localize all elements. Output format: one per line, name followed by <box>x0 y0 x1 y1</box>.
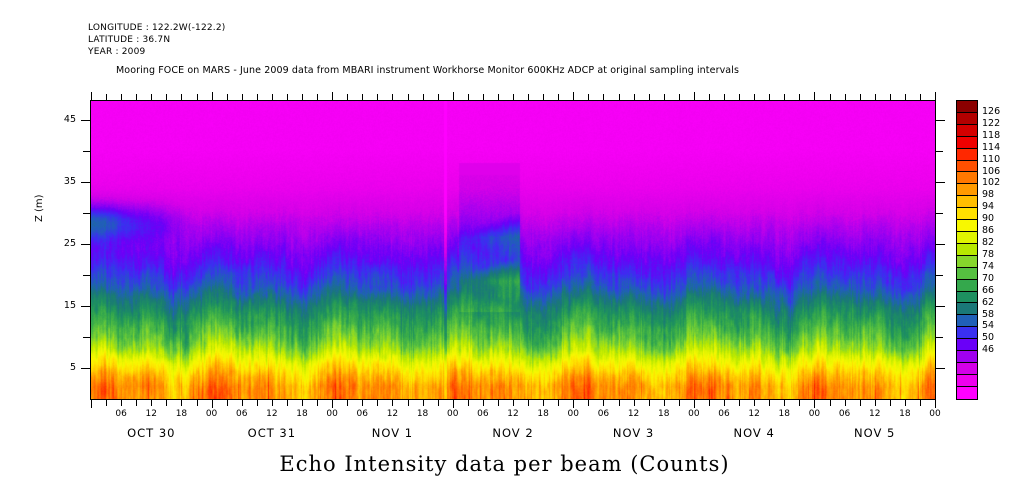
colorbar-cell <box>957 339 977 351</box>
axis-tick <box>784 400 785 406</box>
axis-tick <box>151 94 152 100</box>
x-axis-hour-label: 12 <box>741 409 767 419</box>
axis-tick <box>935 92 936 100</box>
latitude-text: LATITUDE : 36.7N <box>88 35 170 45</box>
x-axis-hour-label: 06 <box>711 409 737 419</box>
axis-tick <box>936 275 943 276</box>
axis-tick <box>362 94 363 100</box>
colorbar-tick-label: 66 <box>982 285 994 296</box>
axis-tick <box>739 400 740 406</box>
colorbar-cell <box>957 208 977 220</box>
axis-tick <box>799 94 800 100</box>
axis-tick <box>936 368 945 369</box>
axis-tick <box>121 400 122 406</box>
axis-tick <box>227 400 228 406</box>
axis-tick <box>936 213 943 214</box>
axis-tick <box>936 182 945 183</box>
colorbar-tick-label: 82 <box>982 237 994 248</box>
colorbar-tick-label: 70 <box>982 273 994 284</box>
axis-tick <box>166 400 167 406</box>
axis-tick <box>694 92 695 100</box>
axis-tick <box>724 400 725 406</box>
axis-tick <box>408 94 409 100</box>
axis-tick <box>830 94 831 100</box>
axis-tick <box>558 94 559 100</box>
x-axis-hour-label: 06 <box>470 409 496 419</box>
axis-tick <box>106 400 107 406</box>
colorbar-tick-label: 54 <box>982 320 994 331</box>
colorbar-tick-label: 118 <box>982 130 1000 141</box>
axis-tick <box>649 400 650 406</box>
axis-tick <box>528 94 529 100</box>
axis-tick <box>272 400 273 406</box>
axis-tick <box>543 94 544 100</box>
x-axis-hour-label: 12 <box>138 409 164 419</box>
colorbar-cell <box>957 196 977 208</box>
x-axis-hour-label: 00 <box>440 409 466 419</box>
axis-tick <box>664 94 665 100</box>
axis-tick <box>468 400 469 406</box>
axis-tick <box>136 94 137 100</box>
axis-tick <box>362 400 363 406</box>
x-axis-hour-label: 18 <box>289 409 315 419</box>
axis-tick <box>694 400 695 408</box>
colorbar-cell <box>957 137 977 149</box>
colorbar-cell <box>957 172 977 184</box>
axis-tick <box>603 94 604 100</box>
axis-tick <box>634 94 635 100</box>
x-axis-date-label: NOV 4 <box>699 426 809 440</box>
colorbar-cell <box>957 292 977 304</box>
x-axis-hour-label: 00 <box>801 409 827 419</box>
x-axis-hour-label: 12 <box>621 409 647 419</box>
axis-tick <box>287 94 288 100</box>
axis-tick <box>151 400 152 406</box>
colorbar-cell <box>957 268 977 280</box>
x-axis-hour-label: 18 <box>651 409 677 419</box>
axis-tick <box>573 92 574 100</box>
axis-tick <box>634 400 635 406</box>
axis-tick <box>936 306 945 307</box>
colorbar-tick-label: 122 <box>982 118 1000 129</box>
axis-tick <box>83 337 90 338</box>
axis-tick <box>483 94 484 100</box>
y-axis-tick-label: 45 <box>48 114 76 125</box>
axis-tick <box>528 400 529 406</box>
axis-tick <box>483 400 484 406</box>
axis-tick <box>573 400 574 408</box>
axis-tick <box>302 94 303 100</box>
y-axis-tick-label: 35 <box>48 176 76 187</box>
axis-tick <box>212 400 213 408</box>
axis-tick <box>739 94 740 100</box>
axis-tick <box>302 400 303 406</box>
axis-tick <box>227 94 228 100</box>
x-axis-date-label: OCT 30 <box>96 426 206 440</box>
colorbar-cell <box>957 375 977 387</box>
colorbar-tick-label: 50 <box>982 332 994 343</box>
axis-tick <box>784 94 785 100</box>
axis-tick <box>83 275 90 276</box>
axis-tick <box>257 400 258 406</box>
axis-tick <box>845 400 846 406</box>
axis-tick <box>936 244 945 245</box>
axis-tick <box>664 400 665 406</box>
colorbar-cell <box>957 244 977 256</box>
heatmap-plot-area <box>90 100 936 400</box>
axis-tick <box>423 94 424 100</box>
x-axis-date-label: NOV 3 <box>579 426 689 440</box>
x-axis-hour-label: 00 <box>922 409 948 419</box>
x-axis-hour-label: 00 <box>681 409 707 419</box>
x-axis-hour-label: 00 <box>560 409 586 419</box>
x-axis-date-label: NOV 2 <box>458 426 568 440</box>
colorbar-cell <box>957 125 977 137</box>
axis-tick <box>242 94 243 100</box>
y-axis-label: Z (m) <box>34 194 45 222</box>
axis-tick <box>91 92 92 100</box>
axis-tick <box>317 94 318 100</box>
year-text: YEAR : 2009 <box>88 47 145 57</box>
axis-tick <box>81 306 90 307</box>
colorbar-tick-label: 102 <box>982 177 1000 188</box>
axis-tick <box>287 400 288 406</box>
axis-tick <box>81 120 90 121</box>
x-axis-hour-label: 06 <box>108 409 134 419</box>
x-axis-hour-label: 00 <box>319 409 345 419</box>
axis-tick <box>257 94 258 100</box>
x-axis-hour-label: 18 <box>168 409 194 419</box>
colorbar-cell <box>957 351 977 363</box>
y-axis-tick-label: 15 <box>48 300 76 311</box>
axis-tick <box>438 400 439 406</box>
colorbar-tick-label: 106 <box>982 166 1000 177</box>
axis-tick <box>920 400 921 406</box>
axis-tick <box>83 213 90 214</box>
axis-tick <box>498 94 499 100</box>
axis-tick <box>709 94 710 100</box>
x-axis-date-label: NOV 1 <box>337 426 447 440</box>
axis-tick <box>513 400 514 406</box>
colorbar-cell <box>957 101 977 113</box>
colorbar-cell <box>957 315 977 327</box>
y-axis-tick-label: 5 <box>48 362 76 373</box>
axis-tick <box>392 94 393 100</box>
colorbar-cell <box>957 256 977 268</box>
x-axis-hour-label: 18 <box>892 409 918 419</box>
colorbar-cell <box>957 149 977 161</box>
axis-tick <box>799 400 800 406</box>
axis-tick <box>860 94 861 100</box>
x-axis-hour-label: 00 <box>199 409 225 419</box>
axis-tick <box>875 400 876 406</box>
axis-tick <box>905 400 906 406</box>
axis-tick <box>181 400 182 406</box>
axis-tick <box>377 400 378 406</box>
colorbar-tick-label: 46 <box>982 344 994 355</box>
axis-tick <box>453 92 454 100</box>
x-axis-hour-label: 06 <box>832 409 858 419</box>
axis-tick <box>392 400 393 406</box>
x-axis-hour-label: 06 <box>349 409 375 419</box>
axis-tick <box>830 400 831 406</box>
axis-tick <box>332 400 333 408</box>
axis-tick <box>181 94 182 100</box>
axis-tick <box>890 94 891 100</box>
x-axis-hour-label: 06 <box>590 409 616 419</box>
axis-tick <box>347 94 348 100</box>
colorbar-cell <box>957 232 977 244</box>
axis-tick <box>197 400 198 406</box>
axis-tick <box>468 94 469 100</box>
axis-tick <box>558 400 559 406</box>
colorbar-cell <box>957 161 977 173</box>
axis-tick <box>408 400 409 406</box>
x-axis-hour-label: 18 <box>530 409 556 419</box>
colorbar-tick-label: 58 <box>982 309 994 320</box>
axis-tick <box>619 94 620 100</box>
colorbar-tick-label: 110 <box>982 154 1000 165</box>
colorbar-cell <box>957 113 977 125</box>
heatmap-canvas <box>91 101 935 399</box>
axis-tick <box>212 92 213 100</box>
colorbar-cell <box>957 327 977 339</box>
axis-tick <box>588 400 589 406</box>
x-axis-hour-label: 12 <box>259 409 285 419</box>
x-axis-hour-label: 12 <box>862 409 888 419</box>
axis-tick <box>875 94 876 100</box>
x-axis-hour-label: 18 <box>410 409 436 419</box>
x-axis-hour-label: 12 <box>500 409 526 419</box>
colorbar-tick-label: 86 <box>982 225 994 236</box>
axis-tick <box>905 94 906 100</box>
colorbar-cell <box>957 303 977 315</box>
colorbar-cell <box>957 184 977 196</box>
axis-tick <box>860 400 861 406</box>
axis-tick <box>438 94 439 100</box>
axis-tick <box>81 244 90 245</box>
axis-tick <box>814 92 815 100</box>
axis-tick <box>920 94 921 100</box>
x-axis-date-label: NOV 5 <box>820 426 930 440</box>
colorbar-tick-label: 74 <box>982 261 994 272</box>
axis-tick <box>754 94 755 100</box>
x-axis-hour-label: 06 <box>229 409 255 419</box>
axis-tick <box>377 94 378 100</box>
axis-tick <box>935 400 936 408</box>
x-axis-hour-label: 18 <box>771 409 797 419</box>
axis-tick <box>890 400 891 406</box>
axis-tick <box>121 94 122 100</box>
colorbar-tick-label: 98 <box>982 189 994 200</box>
axis-tick <box>709 400 710 406</box>
axis-tick <box>83 151 90 152</box>
chart-caption: Echo Intensity data per beam (Counts) <box>0 452 1009 476</box>
axis-tick <box>423 400 424 406</box>
axis-tick <box>845 94 846 100</box>
axis-tick <box>936 120 945 121</box>
axis-tick <box>724 94 725 100</box>
axis-tick <box>936 337 943 338</box>
page-title: Mooring FOCE on MARS - June 2009 data fr… <box>116 65 739 76</box>
colorbar-cell <box>957 220 977 232</box>
y-axis-tick-label: 25 <box>48 238 76 249</box>
axis-tick <box>272 94 273 100</box>
axis-tick <box>936 151 943 152</box>
axis-tick <box>347 400 348 406</box>
x-axis-date-label: OCT 31 <box>217 426 327 440</box>
colorbar-cell <box>957 280 977 292</box>
axis-tick <box>317 400 318 406</box>
axis-tick <box>81 182 90 183</box>
axis-tick <box>679 400 680 406</box>
axis-tick <box>588 94 589 100</box>
x-axis-hour-label: 12 <box>379 409 405 419</box>
axis-tick <box>453 400 454 408</box>
colorbar <box>956 100 978 400</box>
colorbar-tick-label: 114 <box>982 142 1000 153</box>
axis-tick <box>679 94 680 100</box>
axis-tick <box>197 94 198 100</box>
axis-tick <box>754 400 755 406</box>
axis-tick <box>769 400 770 406</box>
axis-tick <box>242 400 243 406</box>
axis-tick <box>543 400 544 406</box>
axis-tick <box>649 94 650 100</box>
echo-intensity-heatmap <box>91 101 935 399</box>
axis-tick <box>136 400 137 406</box>
colorbar-tick-label: 78 <box>982 249 994 260</box>
axis-tick <box>498 400 499 406</box>
axis-tick <box>332 92 333 100</box>
axis-tick <box>91 400 92 408</box>
axis-tick <box>619 400 620 406</box>
colorbar-tick-label: 126 <box>982 106 1000 117</box>
axis-tick <box>166 94 167 100</box>
colorbar-cell <box>957 387 977 399</box>
colorbar-tick-label: 90 <box>982 213 994 224</box>
axis-tick <box>106 94 107 100</box>
axis-tick <box>603 400 604 406</box>
axis-tick <box>81 368 90 369</box>
colorbar-tick-label: 94 <box>982 201 994 212</box>
colorbar-tick-label: 62 <box>982 297 994 308</box>
colorbar-cell <box>957 363 977 375</box>
longitude-text: LONGITUDE : 122.2W(-122.2) <box>88 23 226 33</box>
axis-tick <box>513 94 514 100</box>
axis-tick <box>769 94 770 100</box>
axis-tick <box>814 400 815 408</box>
